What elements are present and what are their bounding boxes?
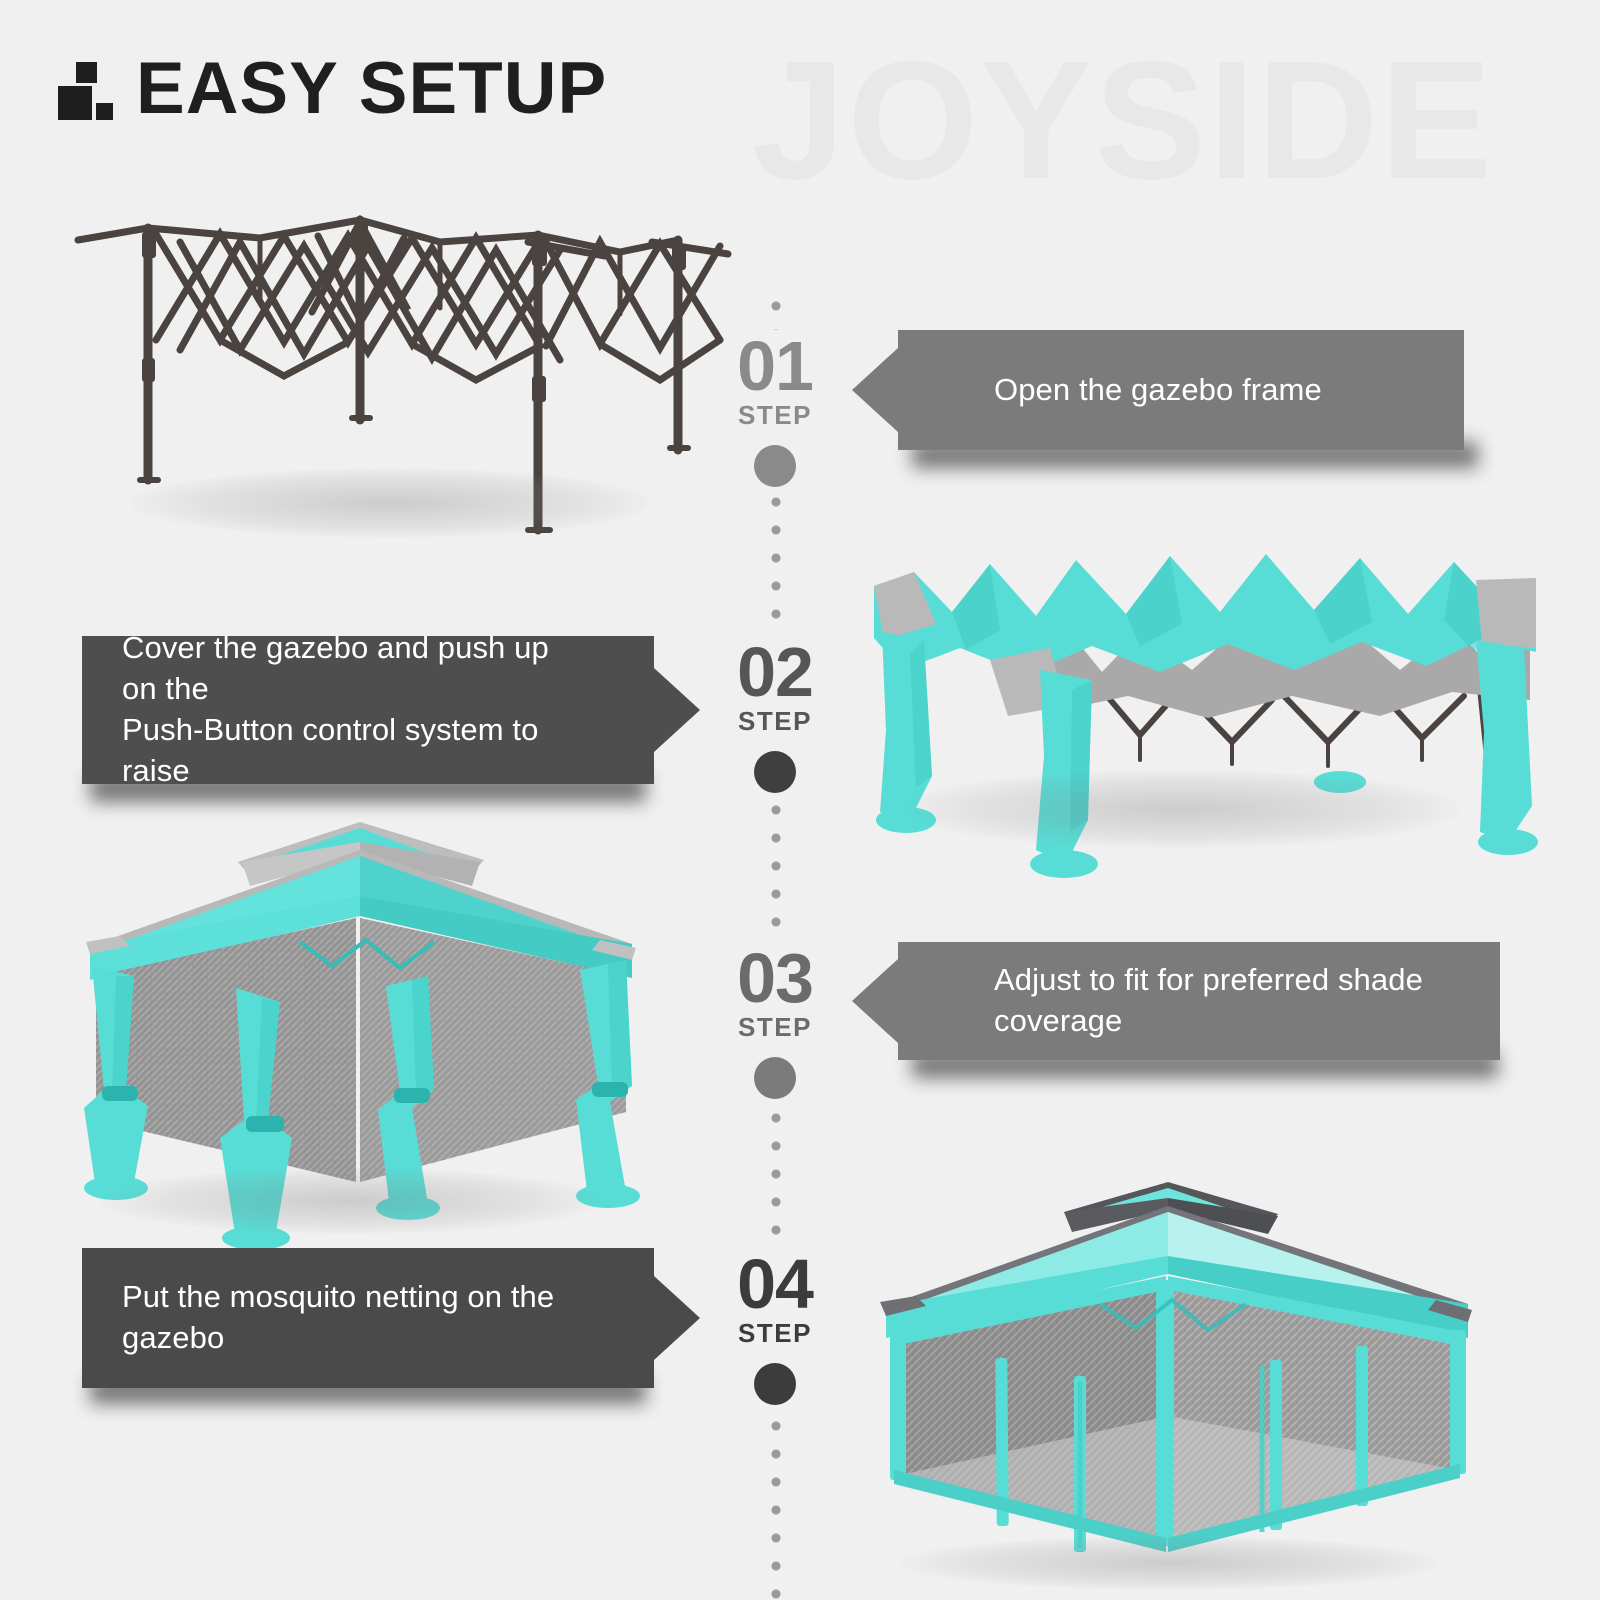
- step-number-02: 02: [700, 640, 850, 704]
- callout-step-04[interactable]: Put the mosquito netting on the gazebo: [82, 1248, 654, 1388]
- step-number-04: 04: [700, 1252, 850, 1316]
- step-label-04: STEP: [700, 1318, 850, 1349]
- callout-body-04: Put the mosquito netting on the gazebo: [82, 1248, 654, 1388]
- step-dot-03: [754, 1057, 796, 1099]
- product-image-gazebo-raised-curtains: [60, 790, 660, 1260]
- step-marker-04: 04 STEP: [700, 1252, 850, 1405]
- callout-body-01: Open the gazebo frame: [898, 330, 1464, 450]
- callout-step-02[interactable]: Cover the gazebo and push up on the Push…: [82, 636, 654, 784]
- callout-step-01[interactable]: Open the gazebo frame: [898, 330, 1464, 450]
- callout-body-03: Adjust to fit for preferred shade covera…: [898, 942, 1500, 1060]
- step-number-03: 03: [700, 946, 850, 1010]
- step-label-02: STEP: [700, 706, 850, 737]
- callout-text-02: Cover the gazebo and push up on the Push…: [122, 628, 558, 792]
- callout-body-02: Cover the gazebo and push up on the Push…: [82, 636, 654, 784]
- callout-step-03[interactable]: Adjust to fit for preferred shade covera…: [898, 942, 1500, 1060]
- step-marker-03: 03 STEP: [700, 946, 850, 1099]
- callout-text-01: Open the gazebo frame: [994, 370, 1322, 411]
- three-squares-icon: [58, 58, 110, 120]
- product-image-gazebo-with-netting: [850, 1140, 1520, 1590]
- product-image-gazebo-frame-open: [60, 180, 740, 560]
- brand-watermark: JOYSIDE: [752, 36, 1494, 204]
- step-marker-02: 02 STEP: [700, 640, 850, 793]
- step-dot-04: [754, 1363, 796, 1405]
- page-title: EASY SETUP: [136, 52, 607, 125]
- step-label-03: STEP: [700, 1012, 850, 1043]
- callout-text-04: Put the mosquito netting on the gazebo: [122, 1277, 558, 1359]
- step-dot-01: [754, 445, 796, 487]
- callout-text-02-line1: Cover the gazebo and push up on the: [122, 630, 549, 706]
- callout-text-03: Adjust to fit for preferred shade covera…: [994, 960, 1466, 1042]
- step-dot-02: [754, 751, 796, 793]
- callout-text-02-line2: Push-Button control system to raise: [122, 712, 538, 788]
- page-header: EASY SETUP: [58, 52, 607, 125]
- product-image-gazebo-canopy-draped: [840, 520, 1540, 890]
